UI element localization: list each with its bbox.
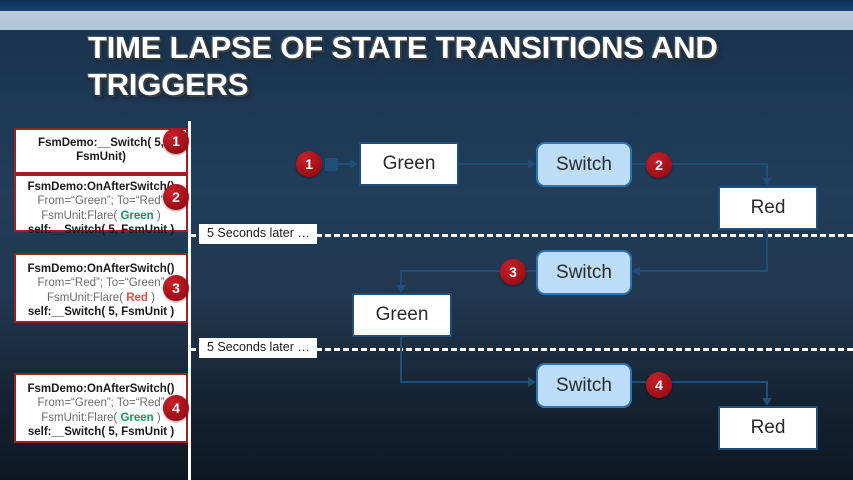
code-literal-green: Green <box>120 210 153 222</box>
code-flare-post: ) <box>154 210 161 222</box>
switch-node-2[interactable]: Switch <box>536 250 632 295</box>
badge-4: 4 <box>163 395 189 421</box>
connector-green1-to-switch1 <box>459 163 533 165</box>
connector-red1-down <box>766 230 768 272</box>
switch-label: Switch <box>556 375 612 397</box>
arrowhead-to-switch-2 <box>632 266 640 276</box>
arrowhead-to-switch-1 <box>528 159 536 169</box>
diagram-badge-1: 1 <box>296 151 322 177</box>
switch-node-3[interactable]: Switch <box>536 363 632 408</box>
code-callout-2: FsmDemo:OnAfterSwitch() From=“Green”; To… <box>14 174 188 232</box>
start-node-marker <box>325 158 338 171</box>
connector-green2-to-switch3 <box>400 381 530 383</box>
code-line: FsmDemo:OnAfterSwitch() <box>16 262 186 276</box>
time-separator-label-2: 5 Seconds later … <box>199 338 317 358</box>
state-label: Green <box>376 304 429 326</box>
diagram-badge-4: 4 <box>646 372 672 398</box>
code-callout-1: FsmDemo:__Switch( 5, FsmUnit) <box>14 128 188 174</box>
connector-red1-to-switch2 <box>640 270 768 272</box>
state-node-red-2[interactable]: Red <box>718 406 818 450</box>
code-literal-green: Green <box>120 412 153 424</box>
state-node-red-1[interactable]: Red <box>718 186 818 230</box>
diagram-badge-2: 2 <box>646 152 672 178</box>
arrowhead-to-green-2 <box>396 285 406 293</box>
badge-3: 3 <box>163 275 189 301</box>
code-flare-post: ) <box>154 412 161 424</box>
code-line: From=“Green”; To=“Red” <box>16 396 186 410</box>
state-label: Red <box>751 417 786 439</box>
vertical-divider-line <box>188 121 191 480</box>
time-separator-label-1: 5 Seconds later … <box>199 224 317 244</box>
badge-1: 1 <box>163 128 189 154</box>
switch-label: Switch <box>556 154 612 176</box>
code-callout-4: FsmDemo:OnAfterSwitch() From=“Green”; To… <box>14 373 188 443</box>
code-line: From=“Green”; To=“Red” <box>16 194 186 208</box>
badge-2: 2 <box>163 184 189 210</box>
code-line: FsmUnit) <box>16 150 186 164</box>
arrowhead-to-switch-3 <box>528 377 536 387</box>
state-node-green-1[interactable]: Green <box>359 142 459 186</box>
code-line-flare: FsmUnit:Flare( Green ) <box>16 411 186 425</box>
diagram-badge-3: 3 <box>500 259 526 285</box>
code-line-flare: FsmUnit:Flare( Green ) <box>16 209 186 223</box>
code-literal-red: Red <box>126 292 148 304</box>
state-label: Red <box>751 197 786 219</box>
top-accent-band <box>0 0 853 11</box>
code-line: self:__Switch( 5, FsmUnit ) <box>16 305 186 319</box>
slide-title: TIME LAPSE OF STATE TRANSITIONS AND TRIG… <box>88 30 788 104</box>
code-flare-pre: FsmUnit:Flare( <box>47 292 126 304</box>
code-flare-pre: FsmUnit:Flare( <box>41 210 120 222</box>
code-callout-3: FsmDemo:OnAfterSwitch() From=“Red”; To=“… <box>14 253 188 323</box>
switch-node-1[interactable]: Switch <box>536 142 632 187</box>
slide-canvas: TIME LAPSE OF STATE TRANSITIONS AND TRIG… <box>0 0 853 480</box>
connector-green2-down <box>400 337 402 383</box>
arrowhead-to-green-1 <box>350 159 358 169</box>
code-line: FsmDemo:__Switch( 5, <box>16 136 186 150</box>
state-label: Green <box>383 153 436 175</box>
code-line: From=“Red”; To=“Green” <box>16 276 186 290</box>
code-flare-post: ) <box>148 292 155 304</box>
code-line: FsmDemo:OnAfterSwitch() <box>16 382 186 396</box>
arrowhead-to-red-1 <box>762 178 772 186</box>
code-line-flare: FsmUnit:Flare( Red ) <box>16 291 186 305</box>
code-flare-pre: FsmUnit:Flare( <box>41 412 120 424</box>
code-line: self:__Switch( 5, FsmUnit ) <box>16 425 186 439</box>
arrowhead-to-red-2 <box>762 398 772 406</box>
state-node-green-2[interactable]: Green <box>352 293 452 337</box>
switch-label: Switch <box>556 262 612 284</box>
code-line: FsmDemo:OnAfterSwitch() <box>16 180 186 194</box>
top-light-band <box>0 11 853 30</box>
code-line: self:__Switch( 5, FsmUnit ) <box>16 223 186 237</box>
